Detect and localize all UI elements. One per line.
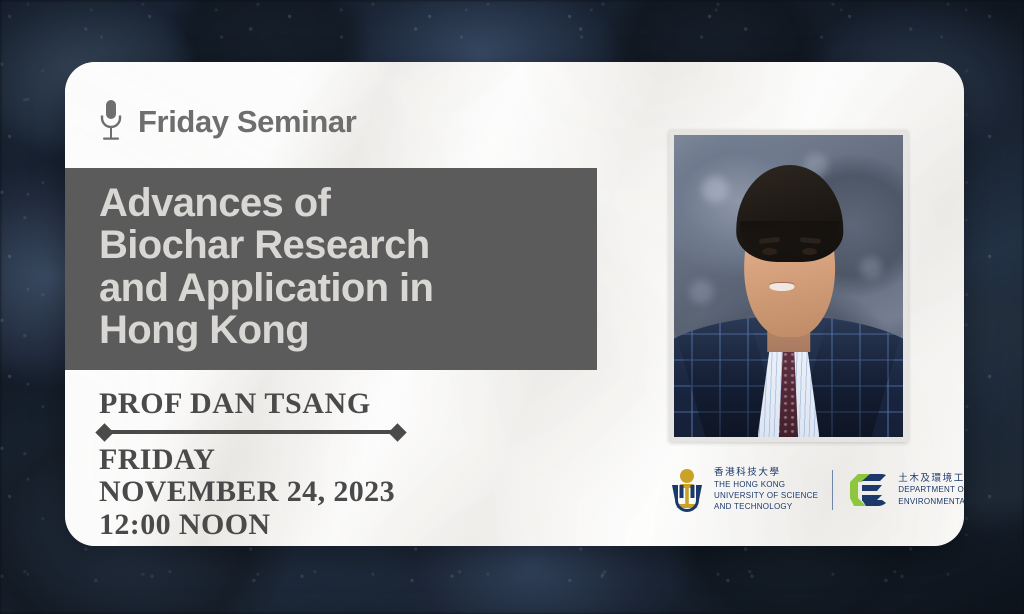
- portrait-eye-right: [802, 248, 817, 255]
- hkust-name-en-3: AND TECHNOLOGY: [714, 502, 818, 512]
- portrait-eye-left: [762, 248, 777, 255]
- title-line-2: Biochar Research: [99, 224, 597, 266]
- logo-row: 香港科技大學 THE HONG KONG UNIVERSITY OF SCIEN…: [669, 467, 964, 513]
- title-line-3: and Application in: [99, 267, 597, 309]
- speaker-name: PROF DAN TSANG: [99, 387, 371, 421]
- portrait-image: [674, 135, 903, 437]
- schedule-time: 12:00 NOON: [99, 509, 395, 541]
- seminar-title-band: Advances of Biochar Research and Applica…: [65, 168, 597, 370]
- cee-logo: 土木及環境工程學系 DEPARTMENT OF CIVIL AND ENVIRO…: [847, 470, 964, 510]
- hkust-name-cn: 香港科技大學: [714, 467, 818, 479]
- hkust-name-en-1: THE HONG KONG: [714, 480, 818, 490]
- poster-card: Friday Seminar Advances of Biochar Resea…: [65, 62, 964, 546]
- hkust-logo: 香港科技大學 THE HONG KONG UNIVERSITY OF SCIEN…: [669, 467, 818, 513]
- cee-name-en-2: ENVIRONMENTAL ENGINEERING: [898, 497, 964, 507]
- decorative-divider: [98, 424, 404, 440]
- cee-name-en-1: DEPARTMENT OF CIVIL AND: [898, 485, 964, 495]
- schedule-day: FRIDAY: [99, 444, 395, 476]
- cee-emblem-icon: [847, 470, 889, 510]
- divider-bar: [109, 430, 393, 434]
- title-line-1: Advances of: [99, 182, 597, 224]
- logo-separator: [832, 470, 833, 510]
- hkust-emblem-icon: [669, 468, 705, 512]
- portrait-mouth: [769, 283, 794, 291]
- cee-logo-text: 土木及環境工程學系 DEPARTMENT OF CIVIL AND ENVIRO…: [898, 473, 964, 507]
- cee-name-cn: 土木及環境工程學系: [898, 473, 964, 485]
- header-title: Friday Seminar: [138, 104, 356, 140]
- hkust-name-en-2: UNIVERSITY OF SCIENCE: [714, 491, 818, 501]
- poster-canvas: Friday Seminar Advances of Biochar Resea…: [0, 0, 1024, 614]
- speaker-portrait: [669, 130, 908, 442]
- seminar-header: Friday Seminar: [98, 98, 356, 146]
- microphone-icon: [98, 98, 124, 146]
- schedule-block: FRIDAY NOVEMBER 24, 2023 12:00 NOON: [99, 444, 395, 541]
- schedule-date: NOVEMBER 24, 2023: [99, 476, 395, 508]
- diamond-left-icon: [95, 423, 113, 441]
- title-line-4: Hong Kong: [99, 309, 597, 351]
- hkust-logo-text: 香港科技大學 THE HONG KONG UNIVERSITY OF SCIEN…: [714, 467, 818, 513]
- diamond-right-icon: [388, 423, 406, 441]
